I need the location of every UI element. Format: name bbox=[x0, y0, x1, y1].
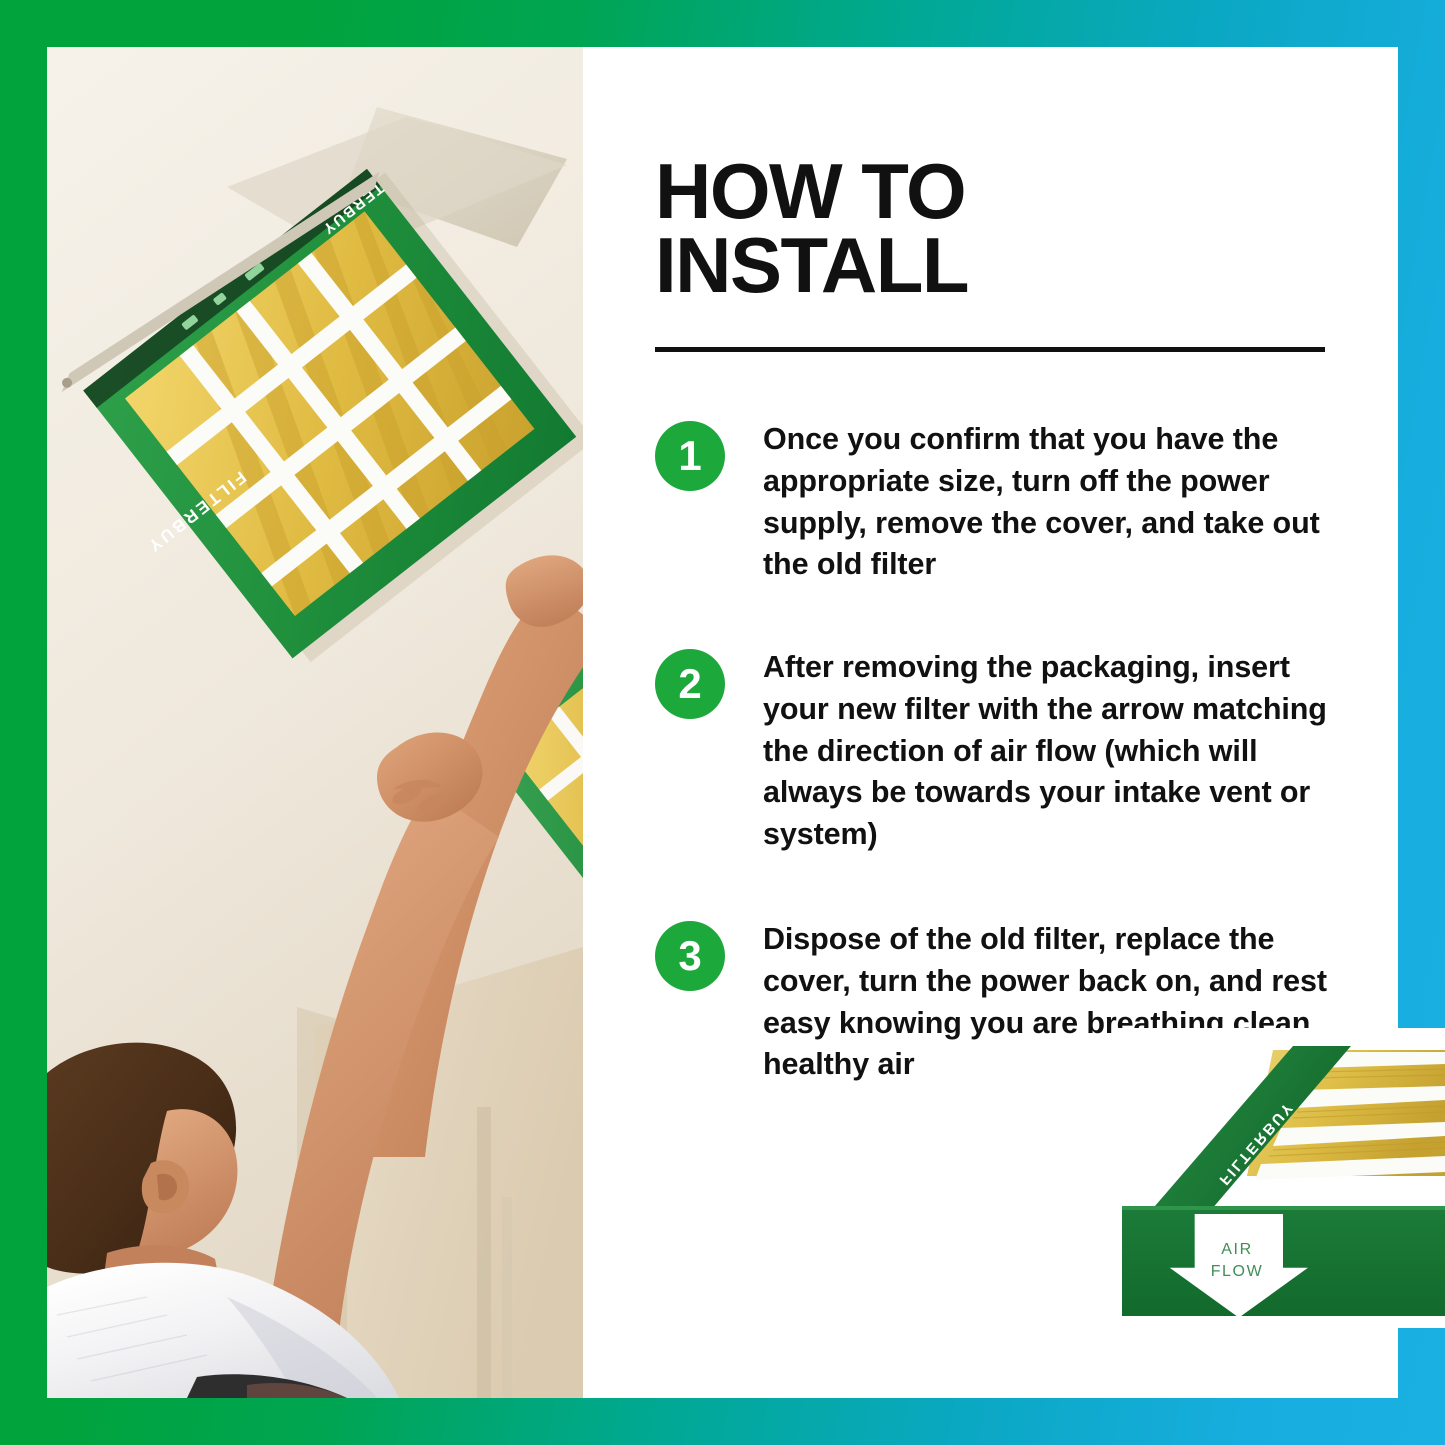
step-number-badge-3: 3 bbox=[655, 921, 725, 991]
step-text-2: After removing the packaging, insert you… bbox=[763, 647, 1355, 856]
air-flow-label-line1: AIR bbox=[1221, 1241, 1252, 1258]
install-step-2: 2 After removing the packaging, insert y… bbox=[655, 647, 1355, 856]
title-divider bbox=[655, 347, 1325, 352]
product-illustration: FILTERBUY AIR FLOW bbox=[1115, 1028, 1445, 1328]
product-filter-photo: FILTERBUY AIR FLOW bbox=[1115, 1028, 1445, 1328]
photo-illustration: FILTERBUY TERBUY bbox=[47, 47, 583, 1398]
step-number-badge-1: 1 bbox=[655, 421, 725, 491]
install-step-1: 1 Once you confirm that you have the app… bbox=[655, 419, 1355, 586]
poster-root: FILTERBUY TERBUY bbox=[0, 0, 1445, 1445]
installation-photo: FILTERBUY TERBUY bbox=[47, 47, 583, 1398]
step-text-1: Once you confirm that you have the appro… bbox=[763, 419, 1355, 586]
page-title-line-1: HOW TO bbox=[655, 154, 1355, 228]
page-title-line-2: INSTALL bbox=[655, 228, 1355, 302]
filter-front-face bbox=[1122, 1206, 1445, 1316]
air-flow-label-line2: FLOW bbox=[1211, 1263, 1264, 1280]
page-title: HOW TO INSTALL bbox=[655, 154, 1355, 302]
step-number-badge-2: 2 bbox=[655, 649, 725, 719]
